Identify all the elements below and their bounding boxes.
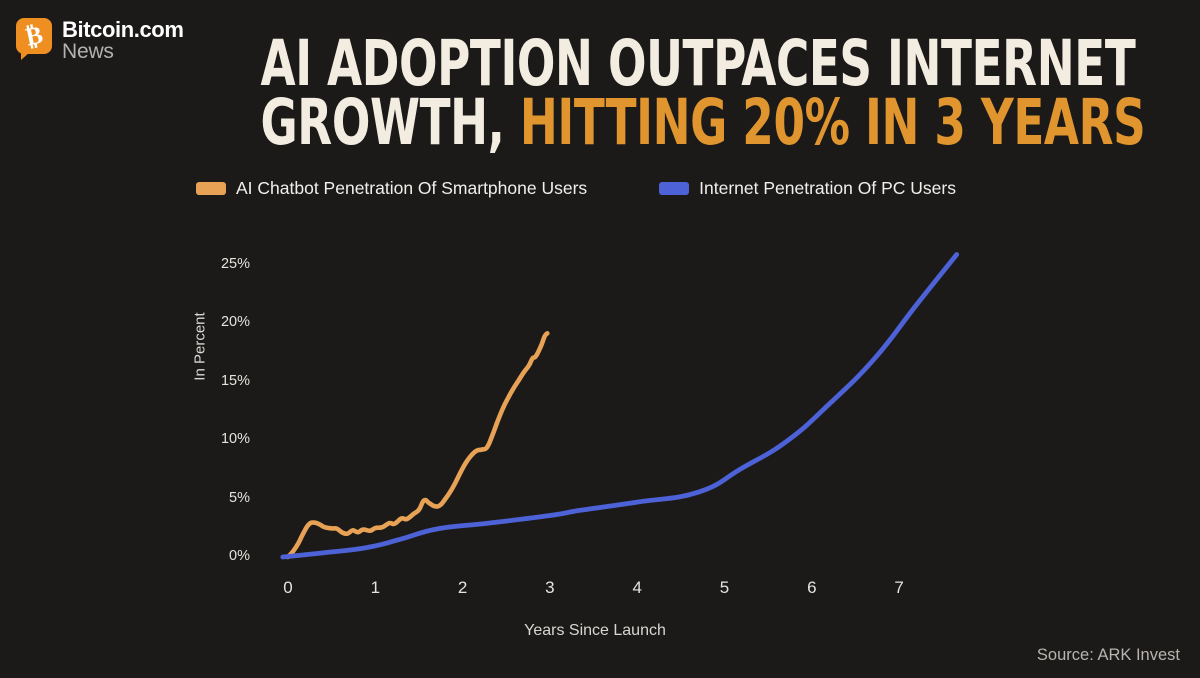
y-tick-label: 10% bbox=[198, 431, 250, 447]
source-credit: Source: ARK Invest bbox=[1037, 646, 1180, 665]
y-tick-label: 0% bbox=[198, 548, 250, 564]
infographic-page: ₿ Bitcoin.com News AI ADOPTION OUTPACES … bbox=[0, 0, 1200, 673]
x-axis-label: Years Since Launch bbox=[0, 622, 1190, 640]
x-tick-label: 1 bbox=[355, 578, 395, 598]
x-tick-label: 0 bbox=[268, 578, 308, 598]
line-chart: 0%5%10%15%20%25% 01234567 In Percent Yea… bbox=[0, 0, 1200, 673]
series-line-ai-chatbot bbox=[288, 333, 547, 557]
chart-plot-svg bbox=[0, 0, 1200, 673]
x-tick-label: 4 bbox=[617, 578, 657, 598]
x-tick-label: 3 bbox=[530, 578, 570, 598]
y-axis-label: In Percent bbox=[192, 312, 209, 380]
y-tick-label: 25% bbox=[198, 256, 250, 272]
y-tick-label: 5% bbox=[198, 490, 250, 506]
x-tick-label: 5 bbox=[705, 578, 745, 598]
x-tick-label: 7 bbox=[879, 578, 919, 598]
x-tick-label: 6 bbox=[792, 578, 832, 598]
x-tick-label: 2 bbox=[443, 578, 483, 598]
series-line-internet bbox=[283, 254, 957, 557]
